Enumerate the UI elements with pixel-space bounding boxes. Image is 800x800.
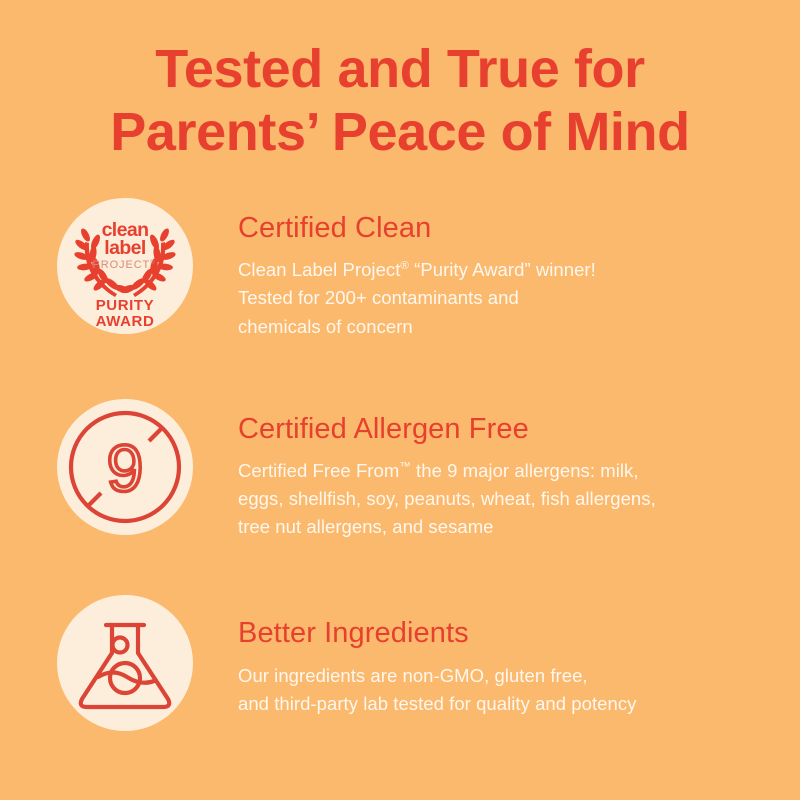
feature-list: clean label PROJECT® PURITY AWARD Certif… — [0, 198, 800, 731]
feature-row-certified-clean: clean label PROJECT® PURITY AWARD Certif… — [0, 198, 800, 341]
feature-body-line-1-rest: the 9 major allergens: milk, — [411, 460, 639, 481]
clean-label-project-purity-award-badge-icon: clean label PROJECT® PURITY AWARD — [57, 198, 193, 334]
feature-text-block: Certified Allergen Free Certified Free F… — [193, 399, 733, 542]
headline-line-2: Parents’ Peace of Mind — [0, 101, 800, 164]
badge-word-label: label — [104, 237, 146, 259]
badge-word-project: PROJECT® — [93, 259, 156, 271]
feature-body-line-3: chemicals of concern — [238, 316, 413, 337]
feature-row-better-ingredients: Better Ingredients Our ingredients are n… — [0, 595, 800, 731]
erlenmeyer-flask-icon — [57, 595, 193, 731]
feature-body: Clean Label Project® “Purity Award” winn… — [238, 256, 733, 340]
badge-award-line-2: AWARD — [96, 313, 155, 330]
feature-text-block: Certified Clean Clean Label Project® “Pu… — [193, 198, 733, 341]
feature-body-line-2: Tested for 200+ contaminants and — [238, 287, 519, 308]
feature-text-block: Better Ingredients Our ingredients are n… — [193, 595, 733, 718]
feature-body-line-1: Clean Label Project — [238, 259, 400, 280]
feature-title: Certified Clean — [238, 212, 733, 245]
feature-body-line-1: Certified Free From — [238, 460, 399, 481]
feature-body-line-2: and third-party lab tested for quality a… — [238, 693, 636, 714]
feature-body-line-1: Our ingredients are non-GMO, gluten free… — [238, 665, 588, 686]
badge-award-line-1: PURITY — [96, 297, 155, 314]
promo-panel: Tested and True for Parents’ Peace of Mi… — [0, 0, 800, 800]
feature-body-line-2: eggs, shellfish, soy, peanuts, wheat, fi… — [238, 488, 656, 509]
page-title: Tested and True for Parents’ Peace of Mi… — [0, 38, 800, 163]
feature-body: Certified Free From™ the 9 major allerge… — [238, 457, 733, 541]
feature-row-certified-allergen-free: 9 Certified Allergen Free Certified Free… — [0, 399, 800, 542]
feature-body-line-1-rest: “Purity Award” winner! — [409, 259, 596, 280]
feature-title: Better Ingredients — [238, 617, 733, 650]
feature-body: Our ingredients are non-GMO, gluten free… — [238, 662, 733, 718]
no-nine-allergens-icon: 9 — [57, 399, 193, 535]
feature-title: Certified Allergen Free — [238, 413, 733, 446]
headline-line-1: Tested and True for — [0, 38, 800, 101]
trademark-mark: ™ — [399, 461, 411, 473]
feature-body-line-3: tree nut allergens, and sesame — [238, 516, 494, 537]
allergen-count-number: 9 — [107, 431, 144, 505]
registered-mark: ® — [400, 260, 409, 272]
